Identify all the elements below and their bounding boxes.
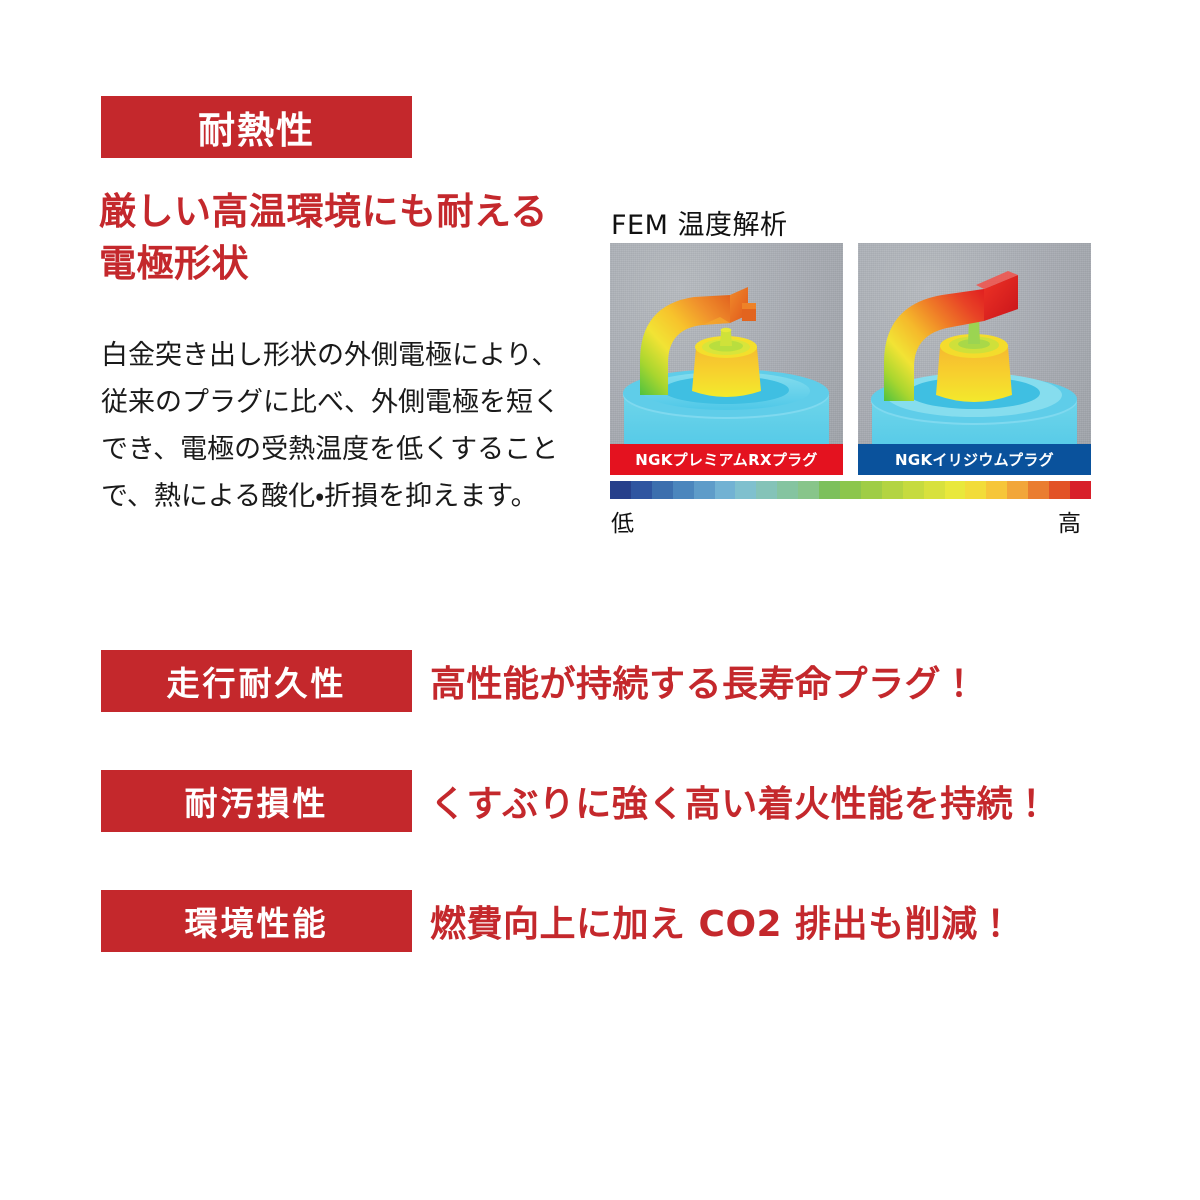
feature-badge-environmental-performance: 環境性能	[101, 890, 412, 952]
fem-temperature-color-scale	[610, 481, 1091, 499]
fem-scale-segment-11	[840, 481, 861, 499]
section-body-heat-resistance: 白金突き出し形状の外側電極により、 従来のプラグに比べ、外側電極を短く でき、電…	[101, 332, 581, 520]
fem-panel-caption-iridium: NGKイリジウムプラグ	[858, 444, 1091, 475]
fem-scale-high-label: 高	[1058, 504, 1081, 538]
fem-scale-segment-6	[735, 481, 756, 499]
fem-scale-segment-0	[610, 481, 631, 499]
fem-scale-segment-15	[924, 481, 945, 499]
body-line-2: 従来のプラグに比べ、外側電極を短く	[101, 379, 581, 426]
fem-scale-segment-4	[694, 481, 715, 499]
fem-panel-caption-premium-rx: NGKプレミアムRXプラグ	[610, 444, 843, 475]
fem-panel-iridium: NGKイリジウムプラグ	[858, 243, 1091, 475]
fem-thermal-render-premium-rx	[610, 243, 843, 475]
section-badge-heat-resistance: 耐熱性	[101, 96, 412, 158]
fem-scale-segment-7	[756, 481, 777, 499]
heading-line-2: 電極形状	[99, 238, 599, 290]
fem-scale-segment-3	[673, 481, 694, 499]
fem-scale-segment-2	[652, 481, 673, 499]
section-heading-heat-resistance: 厳しい高温環境にも耐える 電極形状	[99, 186, 599, 290]
fem-panel-premium-rx: NGKプレミアムRXプラグ	[610, 243, 843, 475]
fem-scale-segment-20	[1028, 481, 1049, 499]
fem-scale-segment-5	[715, 481, 736, 499]
feature-text-environmental-performance: 燃費向上に加え CO2 排出も削減！	[430, 890, 1014, 952]
feature-badge-driving-durability: 走行耐久性	[101, 650, 412, 712]
fem-scale-segment-12	[861, 481, 882, 499]
feature-badge-fouling-resistance: 耐汚損性	[101, 770, 412, 832]
fem-scale-segment-19	[1007, 481, 1028, 499]
fem-scale-segment-13	[882, 481, 903, 499]
feature-text-fouling-resistance: くすぶりに強く高い着火性能を持続！	[430, 770, 1050, 832]
fem-scale-low-label: 低	[611, 504, 634, 538]
heading-line-1: 厳しい高温環境にも耐える	[99, 186, 599, 238]
feature-text-driving-durability: 高性能が持続する長寿命プラグ！	[430, 650, 978, 712]
fem-scale-segment-21	[1049, 481, 1070, 499]
fem-scale-segment-14	[903, 481, 924, 499]
fem-scale-segment-1	[631, 481, 652, 499]
fem-scale-segment-10	[819, 481, 840, 499]
body-line-1: 白金突き出し形状の外側電極により、	[101, 332, 581, 379]
fem-scale-segment-17	[965, 481, 986, 499]
fem-scale-segment-9	[798, 481, 819, 499]
body-line-3: でき、電極の受熱温度を低くすること	[101, 426, 581, 473]
fem-scale-segment-16	[945, 481, 966, 499]
body-line-4: で、熱による酸化・折損を抑えます。	[101, 473, 581, 520]
fem-scale-segment-18	[986, 481, 1007, 499]
fem-scale-segment-8	[777, 481, 798, 499]
fem-scale-segment-22	[1070, 481, 1091, 499]
promo-page: 耐熱性 厳しい高温環境にも耐える 電極形状 白金突き出し形状の外側電極により、 …	[0, 0, 1200, 1200]
fem-thermal-render-iridium	[858, 243, 1091, 475]
fem-figure-title: FEM 温度解析	[611, 203, 787, 242]
